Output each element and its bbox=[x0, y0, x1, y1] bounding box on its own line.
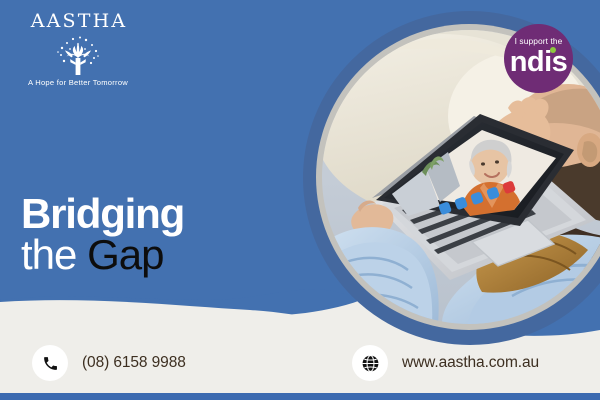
headline-line-1: Bridging bbox=[21, 194, 184, 234]
ndis-badge-top-text: I support the bbox=[504, 37, 573, 45]
contact-phone[interactable]: (08) 6158 9988 bbox=[32, 345, 186, 381]
logo-wordmark: AASTHA bbox=[18, 12, 138, 31]
website-url: www.aastha.com.au bbox=[402, 354, 539, 372]
headline-gap: Gap bbox=[87, 231, 163, 278]
contact-row: (08) 6158 9988 www.aastha.com.au bbox=[0, 345, 600, 385]
logo-tagline: A Hope for Better Tomorrow bbox=[18, 78, 138, 87]
tree-icon bbox=[50, 32, 106, 76]
ndis-badge: I support the ndis bbox=[504, 24, 573, 93]
phone-number: (08) 6158 9988 bbox=[82, 354, 186, 372]
ndis-badge-wordmark-text: ndis bbox=[510, 46, 568, 78]
bottom-accent-bar bbox=[0, 393, 600, 400]
page-title: Bridging the Gap bbox=[21, 194, 184, 275]
headline-line-2: the Gap bbox=[21, 235, 184, 275]
ndis-badge-wordmark: ndis bbox=[510, 48, 568, 77]
banner-root: AASTHA bbox=[0, 0, 600, 400]
phone-icon bbox=[32, 345, 68, 381]
globe-icon bbox=[352, 345, 388, 381]
headline-the: the bbox=[21, 231, 76, 278]
logo: AASTHA bbox=[18, 12, 138, 87]
contact-website[interactable]: www.aastha.com.au bbox=[352, 345, 539, 381]
